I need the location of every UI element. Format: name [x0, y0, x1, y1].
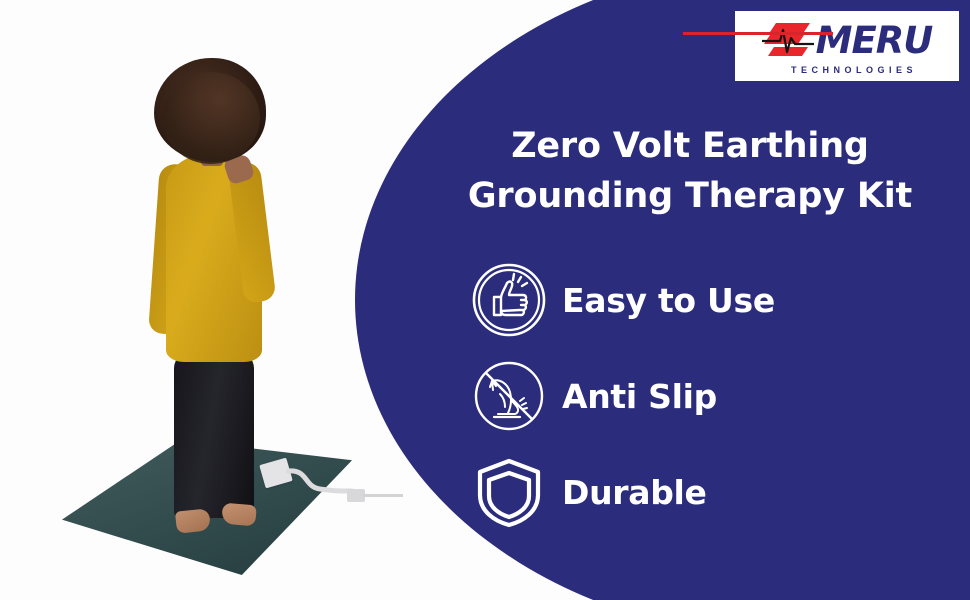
headline-line-1: Zero Volt Earthing [420, 122, 960, 172]
ecg-bars-icon [762, 20, 814, 62]
feature-label-durable: Durable [562, 473, 707, 512]
feature-label-anti-slip: Anti Slip [562, 377, 717, 416]
cable-wire-tail [363, 494, 403, 497]
thumbs-up-circle-icon [470, 261, 548, 339]
model-figure [118, 58, 308, 518]
product-banner: MERU TECHNOLOGIES Zero Volt Earthing Gro… [0, 0, 970, 600]
logo-red-strike [683, 32, 833, 35]
no-slip-circle-icon [470, 357, 548, 435]
logo-wordmark: MERU [816, 22, 933, 59]
feature-list: Easy to Use Anti Slip [470, 252, 940, 540]
shield-icon [470, 453, 548, 531]
feature-item-durable: Durable [470, 444, 940, 540]
product-photo [0, 0, 420, 600]
logo-tagline: TECHNOLOGIES [791, 65, 917, 75]
feature-label-easy-to-use: Easy to Use [562, 281, 775, 320]
headline-line-2: Grounding Therapy Kit [420, 172, 960, 222]
feature-item-anti-slip: Anti Slip [470, 348, 940, 444]
logo-row: MERU [762, 18, 933, 64]
brand-logo[interactable]: MERU TECHNOLOGIES [732, 8, 962, 84]
page-title: Zero Volt Earthing Grounding Therapy Kit [420, 122, 960, 221]
model-hair-highlight [162, 72, 260, 164]
feature-item-easy-to-use: Easy to Use [470, 252, 940, 348]
